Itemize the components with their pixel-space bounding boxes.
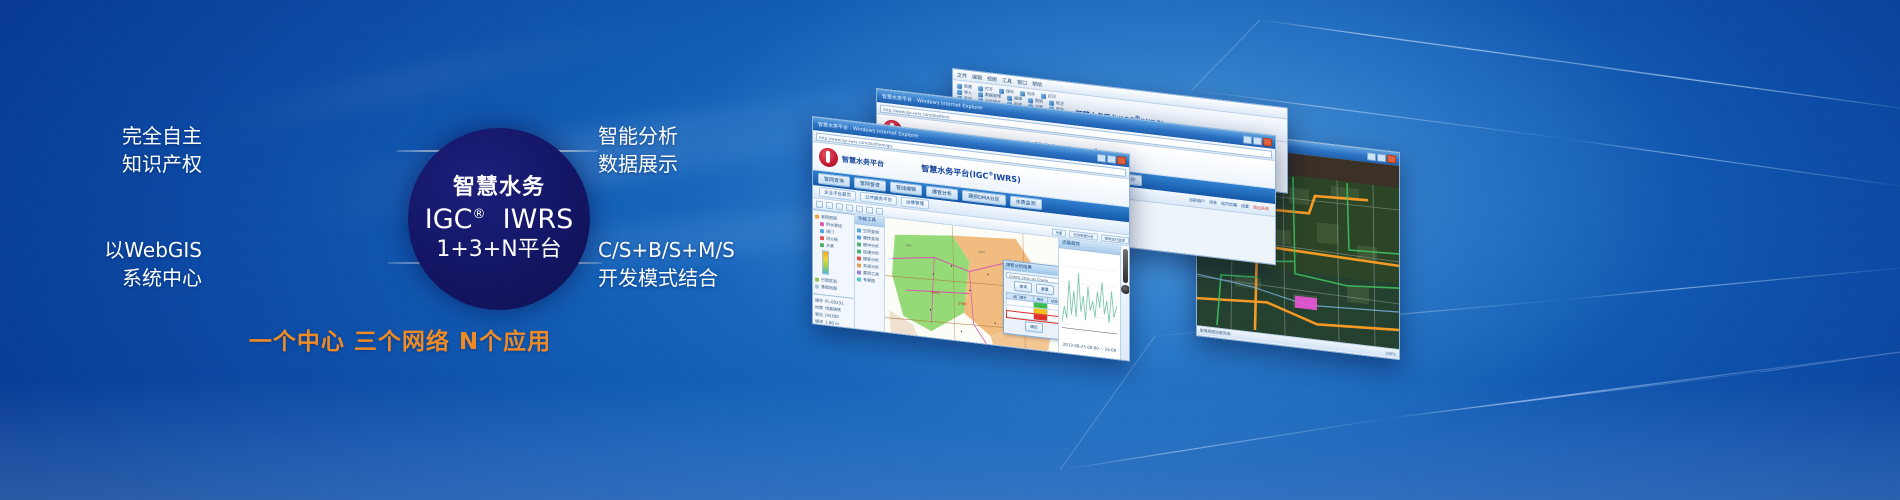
window-controls[interactable] <box>1097 153 1126 164</box>
menu-item-1[interactable]: 编辑 <box>972 73 982 81</box>
tool-icon <box>857 270 861 274</box>
nav-tab-3[interactable]: 爆管分析 <box>926 185 958 200</box>
zoom-in-icon[interactable] <box>846 204 853 212</box>
central-hub-circle: 智慧水务 IGC® IWRS 1+3+N平台 <box>408 128 590 310</box>
confirm-button[interactable]: 确定 <box>1025 321 1043 333</box>
zoom-out-icon[interactable] <box>856 205 863 213</box>
user-link-2[interactable]: 站内信箱 <box>1221 201 1237 209</box>
doc-tab-1[interactable]: 空间数据分析 <box>1069 230 1097 240</box>
doc-tab-2[interactable]: 管网运行监控 <box>1101 234 1129 244</box>
query-button[interactable]: 查询 <box>1014 281 1032 293</box>
attr-value: 2012 <box>829 333 839 341</box>
tool-icon <box>857 242 861 246</box>
trend-chart-svg <box>1062 252 1117 342</box>
nav-tab-2[interactable]: 管线编辑 <box>890 181 922 196</box>
user-link-1[interactable]: 消息 <box>1209 199 1217 206</box>
reset-button[interactable]: 重置 <box>1036 283 1054 295</box>
attr-value: 正常 <box>825 347 833 355</box>
attr-row: 所属城东分公司 <box>815 338 852 349</box>
map-pan-control[interactable] <box>1120 245 1129 361</box>
nav-tab-5[interactable]: 水质监测 <box>1010 195 1042 210</box>
nav-tab-0[interactable]: 管网查询 <box>818 173 850 188</box>
company-logo-icon <box>819 147 838 168</box>
spoke-line-1: 智能分析 <box>598 122 678 150</box>
spoke-line-1: 以WebGIS <box>104 236 202 264</box>
layer-panel[interactable]: 图层控制 管网图层 供水管线 阀门 消火栓 水表 行政区划 基础地图 属性信息 … <box>813 209 855 346</box>
brand-name: 智慧水务平台 <box>842 154 884 169</box>
attr-value: 1.80 m <box>825 319 839 328</box>
tool-icon <box>857 228 861 232</box>
attr-key: 所属 <box>815 338 823 346</box>
trend-chart-panel: 流量趋势 2013-08-25 00:00 ~ 24:00 <box>1058 238 1120 361</box>
layer-label: 水表 <box>826 242 834 250</box>
maximize-button[interactable] <box>1377 153 1386 162</box>
pan-joystick-icon[interactable] <box>1121 284 1130 294</box>
infographic: 完全自主 知识产权 以WebGIS 系统中心 智能分析 数据展示 C/S+B/S… <box>0 0 800 500</box>
spoke-line-2: 系统中心 <box>104 264 202 292</box>
tool-icon <box>857 256 861 260</box>
attr-key: 埋深 <box>815 317 823 325</box>
close-button[interactable] <box>1387 154 1396 163</box>
map-zoom-level: 100% <box>1385 350 1396 356</box>
spoke-label-bottom-right: C/S+B/S+M/S 开发模式结合 <box>598 236 735 292</box>
layer-swatch-icon <box>820 242 824 246</box>
attr-key: 建设年 <box>815 331 827 339</box>
tool-panel[interactable]: 功能工具 空间查询 属性查询 缓冲分析 连通分析 爆管分析 关阀分析 量测工具 … <box>855 214 885 350</box>
hub-title-cn: 智慧水务 <box>453 176 545 200</box>
trend-chart-xlabel: 2013-08-25 00:00 ~ 24:00 <box>1062 342 1117 353</box>
user-link-3[interactable]: 设置 <box>1241 203 1249 210</box>
spoke-line-2: 开发模式结合 <box>598 264 735 292</box>
spoke-label-bottom-left: 以WebGIS 系统中心 <box>104 236 202 292</box>
menu-item-5[interactable]: 帮助 <box>1032 80 1042 88</box>
minimize-button[interactable] <box>1367 152 1376 161</box>
attr-row: 建设年2012 <box>815 331 852 342</box>
pan-icon[interactable] <box>836 202 843 210</box>
nav-tab-1[interactable]: 管网普查 <box>854 177 886 192</box>
tool-icon <box>857 235 861 239</box>
tool-icon <box>857 249 861 253</box>
layer-swatch-icon <box>820 221 824 225</box>
subnav-tab-2[interactable]: 运维管理 <box>901 197 929 210</box>
user-link-4[interactable]: 退出系统 <box>1253 204 1269 212</box>
save-icon[interactable] <box>826 201 833 209</box>
attribute-list: 编号PL-00231 材质球墨铸铁 管径DN300 埋深1.80 m 压力0.3… <box>813 294 854 359</box>
spoke-line-2: 数据展示 <box>598 150 678 178</box>
tagline: 一个中心 三个网络 N个应用 <box>0 322 800 356</box>
legend-color-ramp <box>822 250 829 275</box>
svg-text:南郊: 南郊 <box>916 334 920 339</box>
layer-tree[interactable]: 管网图层 供水管线 阀门 消火栓 水表 行政区划 基础地图 <box>813 210 854 296</box>
front-window-frame[interactable]: 智慧水务平台 - Windows Internet Explorer http:… <box>812 116 1130 362</box>
status-text: 就绪 <box>816 343 824 350</box>
window-controls[interactable] <box>1243 135 1272 146</box>
zoom-slider-track[interactable] <box>1123 249 1128 284</box>
spoke-line-2: 知识产权 <box>122 150 202 178</box>
layer-swatch-icon <box>820 228 824 232</box>
tool-list[interactable]: 空间查询 属性查询 缓冲分析 连通分析 爆管分析 关阀分析 量测工具 专题图 <box>855 224 884 287</box>
hub-igc: IGC <box>425 204 473 235</box>
window-controls[interactable] <box>1367 152 1396 163</box>
maximize-button[interactable] <box>1253 136 1262 145</box>
minimize-button[interactable] <box>1097 153 1106 162</box>
hub-platform-line: 1+3+N平台 <box>436 237 561 262</box>
banner-stage: 完全自主 知识产权 以WebGIS 系统中心 智能分析 数据展示 C/S+B/S… <box>0 0 1900 500</box>
attr-key: 状态 <box>815 345 823 353</box>
tool-icon <box>857 263 861 267</box>
menu-item-2[interactable]: 视图 <box>987 75 997 83</box>
app-title-post: IWRS) <box>993 172 1020 184</box>
layer-swatch-icon <box>815 214 819 218</box>
minimize-button[interactable] <box>1243 135 1252 144</box>
close-button[interactable] <box>1263 137 1272 146</box>
window-front[interactable]: 智慧水务平台 - Windows Internet Explorer http:… <box>812 116 1130 362</box>
tool-label: 专题图 <box>863 276 875 284</box>
spoke-label-top-left: 完全自主 知识产权 <box>122 122 202 178</box>
trend-chart-plot: 2013-08-25 00:00 ~ 24:00 <box>1059 248 1120 361</box>
attr-row: 状态正常 <box>815 345 852 356</box>
layer-swatch-icon <box>820 235 824 239</box>
spoke-line-1: C/S+B/S+M/S <box>598 236 735 264</box>
registered-mark-icon: ® <box>473 207 486 222</box>
open-icon[interactable] <box>816 200 823 208</box>
spoke-line-1: 完全自主 <box>122 122 202 150</box>
user-link-0[interactable]: 当前用户 <box>1189 197 1205 205</box>
hub-title-en: IGC® IWRS <box>425 204 573 235</box>
level-swatch-icon <box>1033 314 1047 322</box>
attr-value: 0.32 MPa <box>825 326 843 335</box>
layer-swatch-icon <box>815 284 819 288</box>
menu-item-4[interactable]: 窗口 <box>1017 78 1027 86</box>
burst-analysis-dialog[interactable]: 爆管分析结果 Cheng Zhou qu Chang 查询 重置 阀门编号 等级 <box>1003 260 1058 341</box>
menu-item-0[interactable]: 文件 <box>957 71 967 79</box>
close-button[interactable] <box>1117 155 1126 164</box>
app-title: 智慧水务平台(IGC®IWRS) <box>921 163 1020 186</box>
measure-icon[interactable] <box>876 207 883 215</box>
result-table: 阀门编号 等级 状态 <box>1006 292 1058 324</box>
layer-label: 基础地图 <box>821 283 837 292</box>
app-title-pre: 智慧水务平台(IGC <box>921 164 988 181</box>
attr-key: 压力 <box>815 324 823 332</box>
svg-text:西城区: 西城区 <box>906 243 912 248</box>
select-icon[interactable] <box>866 206 873 214</box>
spoke-label-top-right: 智能分析 数据展示 <box>598 122 678 178</box>
maximize-button[interactable] <box>1107 154 1116 163</box>
hub-iwrs: IWRS <box>503 204 574 235</box>
dialog-body: Cheng Zhou qu Chang 查询 重置 阀门编号 等级 状态 <box>1004 270 1058 340</box>
attr-value: 城东分公司 <box>825 340 845 349</box>
menu-item-3[interactable]: 工具 <box>1002 76 1012 84</box>
doc-tab-0[interactable]: 地图 <box>1052 228 1067 237</box>
gis-map-canvas[interactable]: 管网分区 主干管线 西城区东城片区 工业园南郊 爆管分析结果 Cheng Zho… <box>885 218 1058 362</box>
map-status-text: 影像底图加载完成 <box>1200 327 1230 337</box>
layer-swatch-icon <box>815 277 819 281</box>
tool-icon <box>857 277 861 281</box>
